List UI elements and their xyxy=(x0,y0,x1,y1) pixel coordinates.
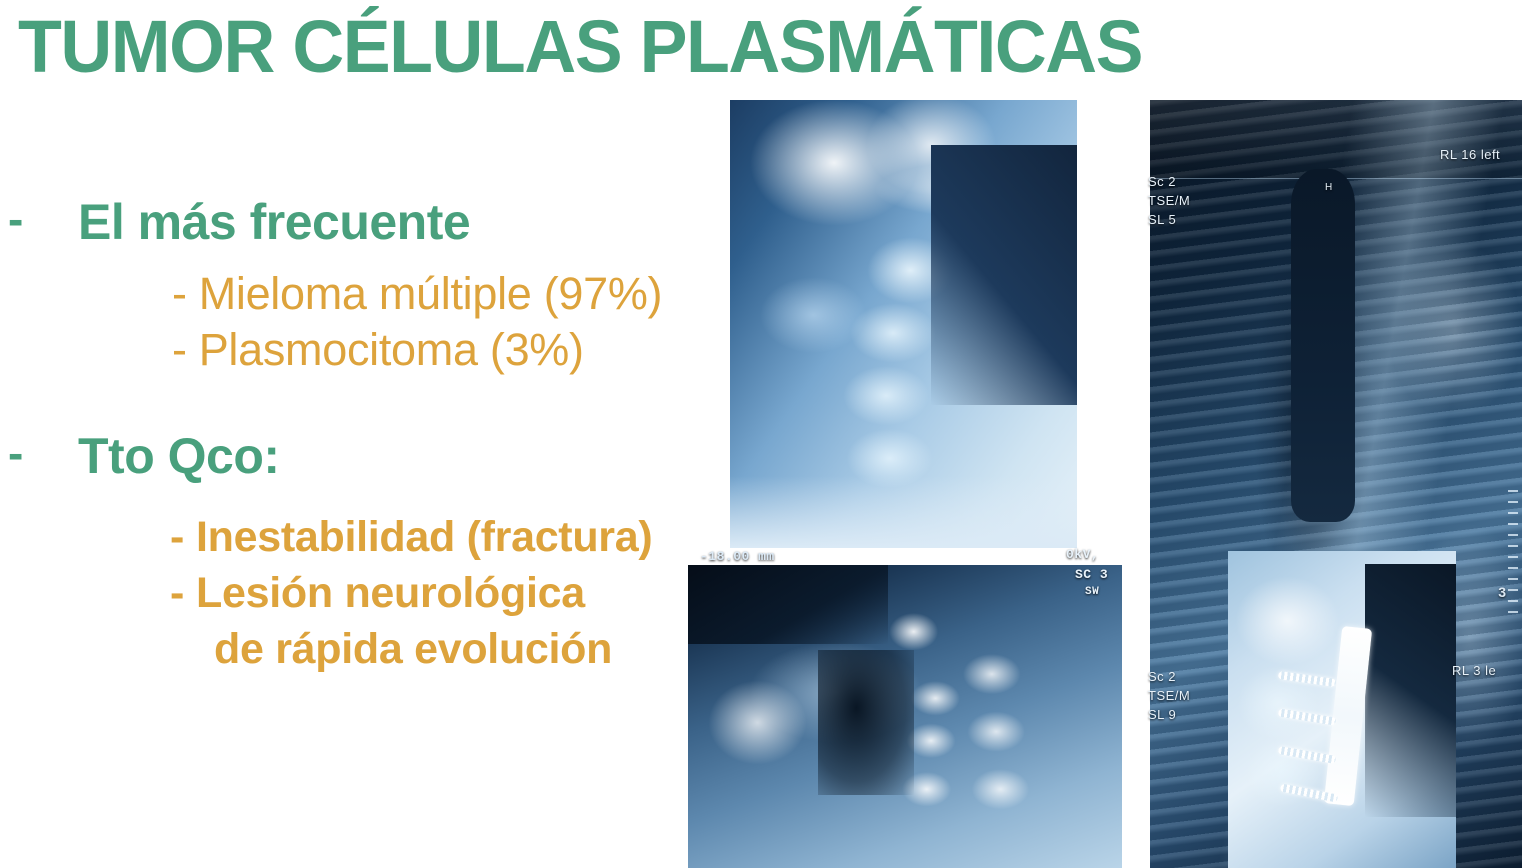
sub-dash-icon: - xyxy=(172,322,187,378)
sub-item-label: Plasmocitoma (3%) xyxy=(199,322,584,378)
bullet-group-2: - Tto Qco: xyxy=(8,430,280,483)
postop-instrumented-xray-image xyxy=(1228,551,1456,868)
pedicle-screw xyxy=(1278,746,1337,764)
pedicle-screw xyxy=(1278,708,1337,725)
pedicle-screw xyxy=(1278,671,1337,687)
cervical-lateral-xray-image xyxy=(730,100,1077,548)
mri-ruler-label: 3 xyxy=(1498,584,1506,600)
bullet-label-tto-qco: Tto Qco: xyxy=(78,430,280,483)
sub-item-label: de rápida evolución xyxy=(214,622,612,678)
list-item: - Mieloma múltiple (97%) xyxy=(172,266,662,322)
sub-dash-icon: - xyxy=(170,566,184,622)
list-item: de rápida evolución xyxy=(214,622,652,678)
xray-soft-tissue-gradient xyxy=(730,476,1077,548)
sub-list-2: - Inestabilidad (fractura) - Lesión neur… xyxy=(170,510,652,678)
ct-airway-region xyxy=(818,650,913,795)
mri-scale-ruler xyxy=(1508,490,1518,620)
sub-dash-icon: - xyxy=(172,266,187,322)
bullet-dash-icon: - xyxy=(8,196,78,242)
list-item: - Lesión neurológica xyxy=(170,566,652,622)
sub-item-label: Lesión neurológica xyxy=(196,566,585,622)
xray-dark-background xyxy=(931,145,1077,405)
list-item: - Plasmocitoma (3%) xyxy=(172,322,662,378)
bullet-label-frecuente: El más frecuente xyxy=(78,196,470,249)
page-title: TUMOR CÉLULAS PLASMÁTICAS xyxy=(18,8,1142,86)
postop-dark-background xyxy=(1365,564,1456,818)
list-item: - Inestabilidad (fractura) xyxy=(170,510,652,566)
sub-item-label: Inestabilidad (fractura) xyxy=(196,510,652,566)
bullet-group-1: - El más frecuente xyxy=(8,196,470,249)
mri-panel-seam xyxy=(1150,100,1522,179)
ct-air-region xyxy=(688,565,888,644)
slide-canvas: TUMOR CÉLULAS PLASMÁTICAS - El más frecu… xyxy=(0,0,1522,868)
cervical-sagittal-ct-image xyxy=(688,565,1122,868)
sub-item-label: Mieloma múltiple (97%) xyxy=(199,266,663,322)
sub-list-1: - Mieloma múltiple (97%) - Plasmocitoma … xyxy=(172,266,662,378)
mri-spinal-cord-region xyxy=(1291,169,1354,522)
dicom-label-ct-kv: 0kV, xyxy=(1066,546,1099,565)
sub-dash-icon: - xyxy=(170,510,184,566)
bullet-dash-icon: - xyxy=(8,430,78,476)
